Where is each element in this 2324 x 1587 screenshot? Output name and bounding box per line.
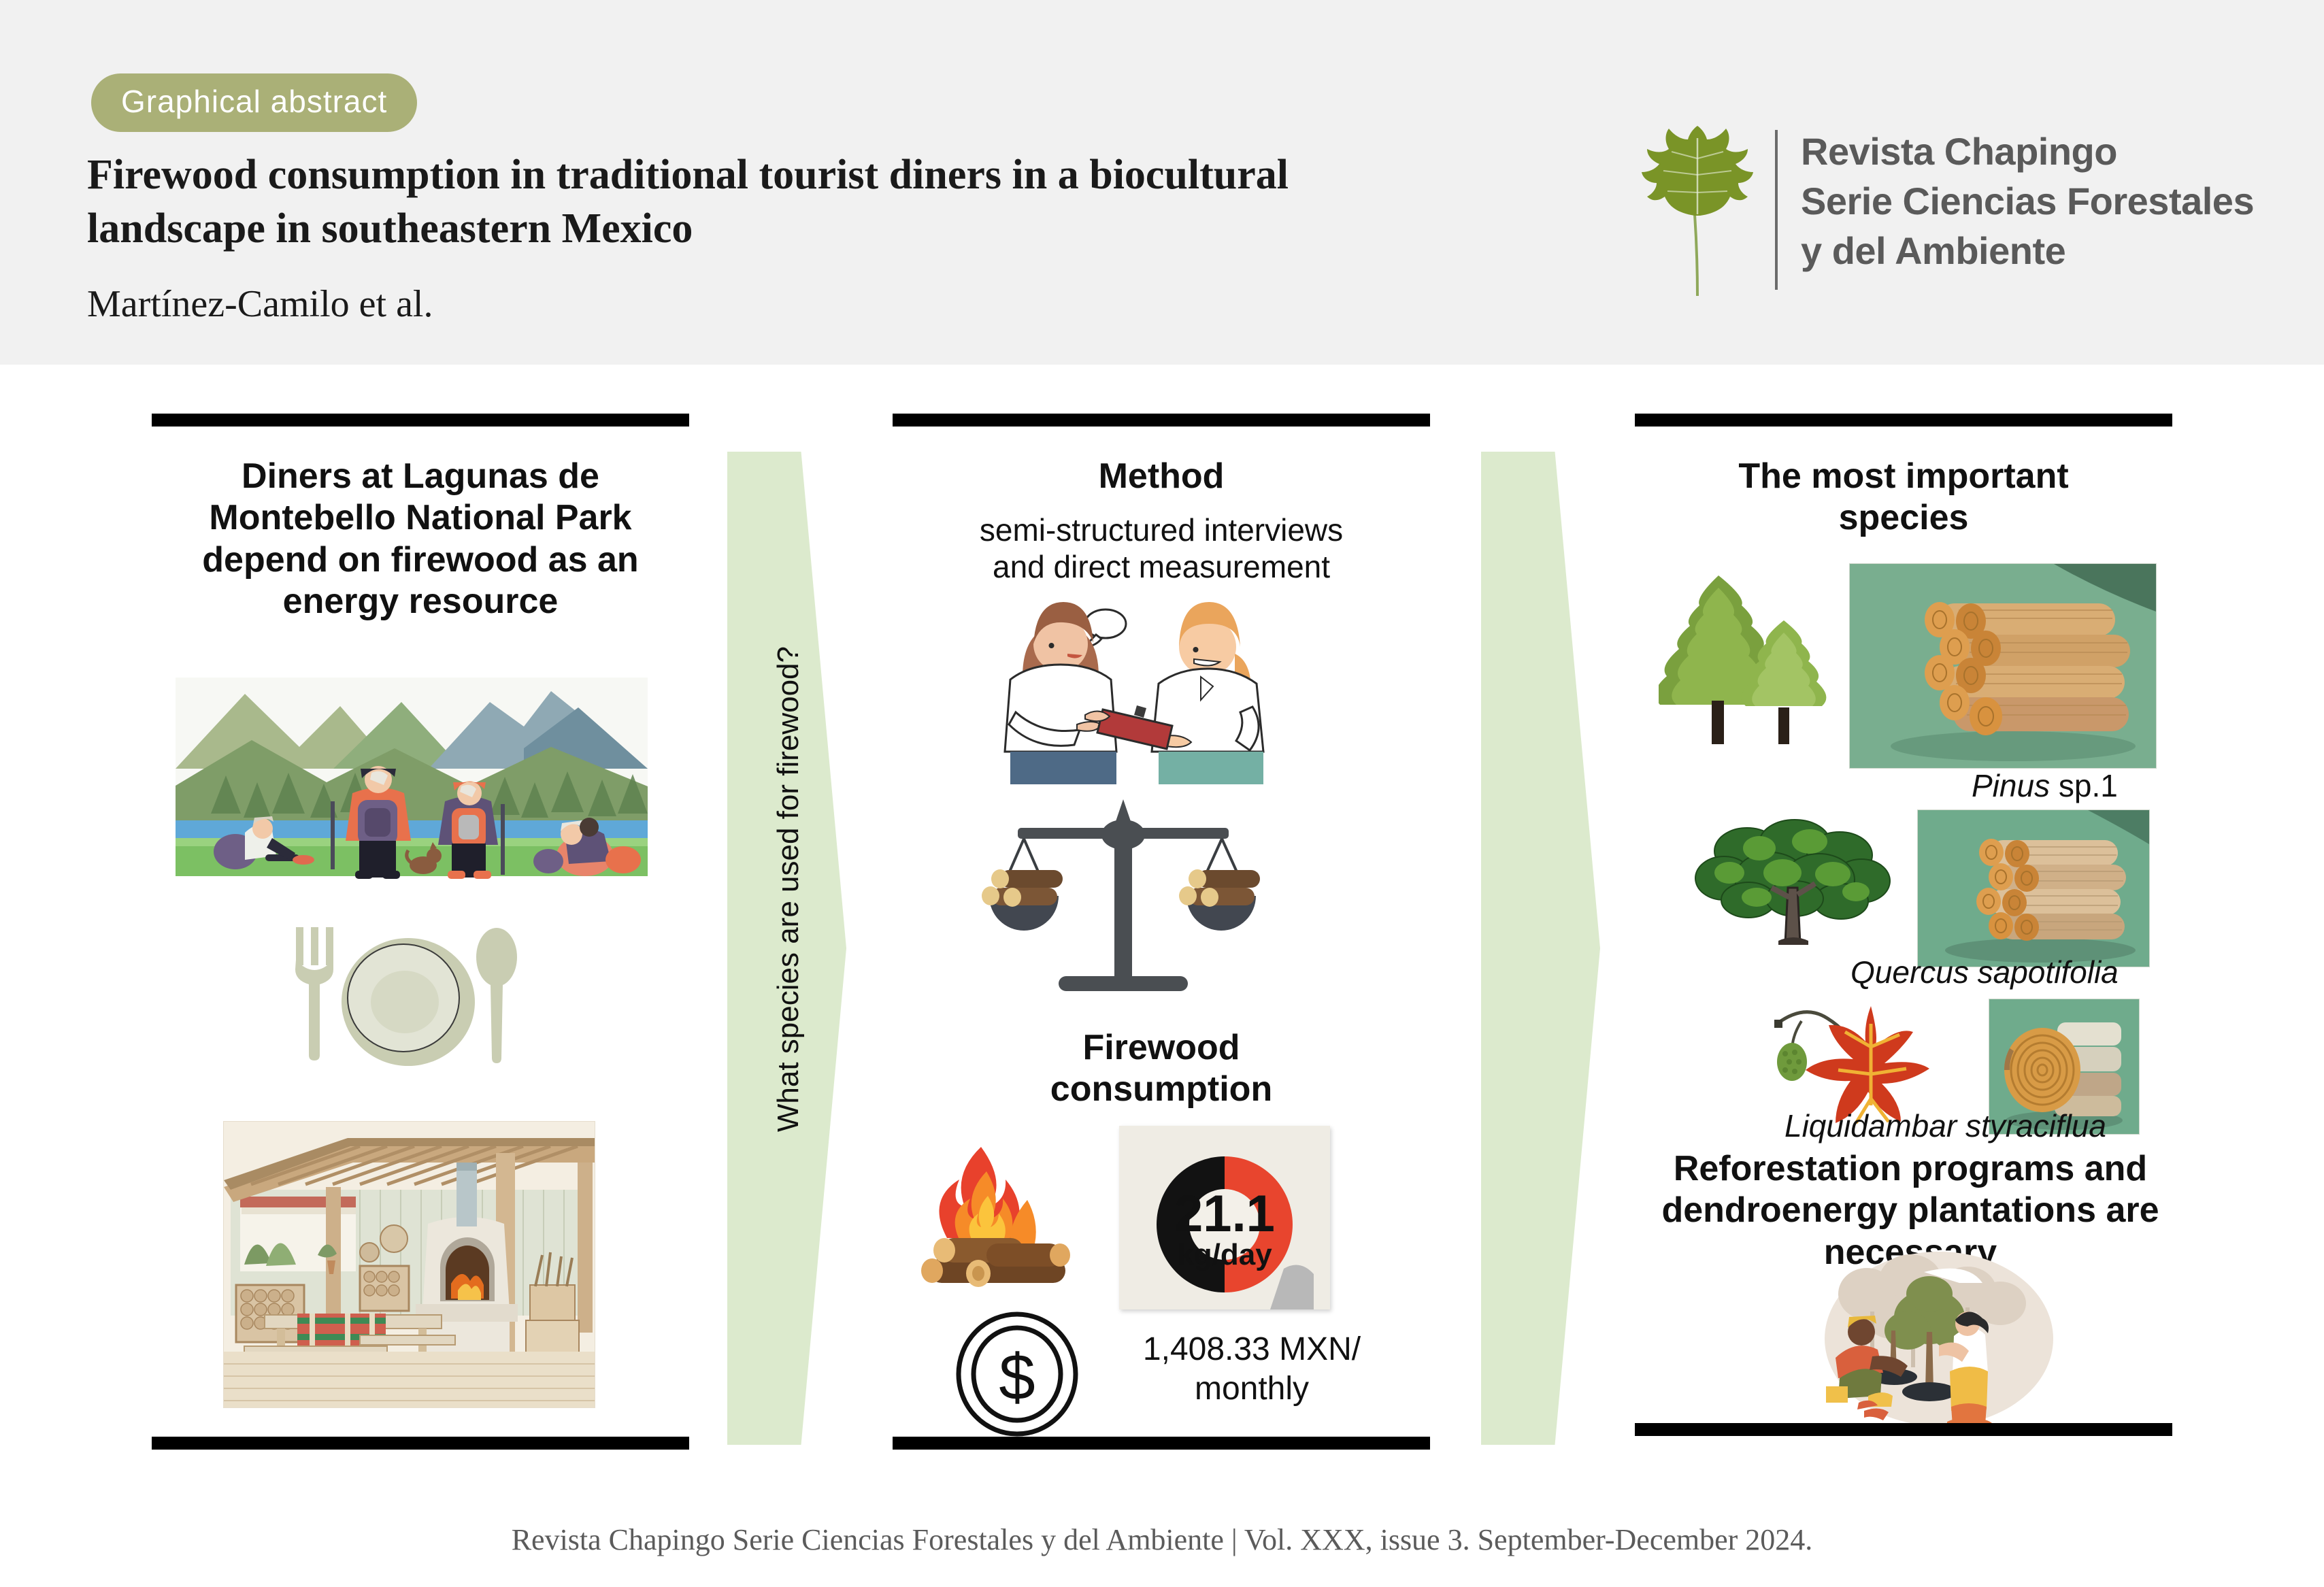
journal-logo: Revista Chapingo Serie Ciencias Forestal… bbox=[1629, 126, 2254, 299]
species-label-pinus-rest: sp.1 bbox=[2050, 768, 2118, 803]
right-column-heading: The most important species bbox=[1662, 456, 2145, 539]
graphical-abstract-badge: Graphical abstract bbox=[91, 73, 417, 132]
authors: Martínez-Camilo et al. bbox=[87, 282, 433, 326]
species-label-pinus-italic: Pinus bbox=[1972, 768, 2050, 803]
logo-divider bbox=[1775, 130, 1778, 290]
pine-trees-icon bbox=[1659, 565, 1842, 755]
stacked-pine-logs-photo bbox=[1849, 563, 2157, 769]
oak-tree-icon bbox=[1686, 813, 1897, 949]
journal-name: Revista Chapingo Serie Ciencias Forestal… bbox=[1801, 126, 2254, 275]
svg-text:$: $ bbox=[999, 1341, 1035, 1414]
gauge-unit: kg/day bbox=[1119, 1240, 1330, 1270]
header-band: Graphical abstract Firewood consumption … bbox=[0, 0, 2324, 365]
method-subheading-line2: and direct measurement bbox=[893, 548, 1430, 585]
hikers-in-park-illustration bbox=[170, 667, 653, 884]
method-subheading: semi-structured interviews and direct me… bbox=[893, 512, 1430, 586]
tree-planting-illustration bbox=[1796, 1252, 2082, 1429]
arrow-middle-to-right bbox=[1481, 452, 1600, 1445]
species-label-quercus: Quercus sapotifolia bbox=[1850, 954, 2119, 990]
firewood-rate-gauge-card: 21.1 kg/day bbox=[1119, 1126, 1330, 1309]
species-label-pinus: Pinus sp.1 bbox=[1972, 767, 2118, 804]
left-column-heading: Diners at Lagunas de Montebello National… bbox=[172, 456, 669, 622]
monthly-cost-line1: 1,408.33 MXN/ bbox=[1109, 1330, 1395, 1369]
footer-citation: Revista Chapingo Serie Ciencias Forestal… bbox=[0, 1522, 2324, 1557]
rule-top-left bbox=[152, 414, 689, 427]
journal-name-line2: Serie Ciencias Forestales bbox=[1801, 177, 2254, 227]
species-label-liquidambar-italic: Liquidambar styraciflua bbox=[1784, 1108, 2106, 1143]
plate-and-cutlery-icon bbox=[261, 922, 560, 1092]
monthly-cost: 1,408.33 MXN/ monthly bbox=[1109, 1330, 1395, 1408]
campfire-icon bbox=[899, 1129, 1117, 1306]
species-label-quercus-italic: Quercus sapotifolia bbox=[1850, 954, 2119, 990]
firewood-consumption-heading: Firewood consumption bbox=[920, 1027, 1403, 1111]
method-heading: Method bbox=[920, 456, 1403, 497]
page-title-line1: Firewood consumption in traditional tour… bbox=[87, 148, 1516, 202]
rule-bottom-left bbox=[152, 1437, 689, 1450]
rule-bottom-right bbox=[1635, 1423, 2172, 1436]
page-title: Firewood consumption in traditional tour… bbox=[87, 148, 1516, 256]
method-subheading-line1: semi-structured interviews bbox=[893, 512, 1430, 548]
firewood-consumption-line2: consumption bbox=[920, 1069, 1403, 1110]
stacked-oak-logs-photo bbox=[1917, 809, 2150, 967]
rule-top-right bbox=[1635, 414, 2172, 427]
species-label-liquidambar: Liquidambar styraciflua bbox=[1784, 1107, 2106, 1144]
monthly-cost-line2: monthly bbox=[1109, 1369, 1395, 1409]
arrow-question-label-1: What species are used for firewood? bbox=[771, 646, 806, 1132]
right-column-heading-line1: The most important bbox=[1662, 456, 2145, 497]
oak-leaf-icon bbox=[1629, 126, 1765, 299]
right-column-heading-line2: species bbox=[1662, 497, 2145, 539]
page-title-line2: landscape in southeastern Mexico bbox=[87, 202, 1516, 256]
rule-bottom-middle bbox=[893, 1437, 1430, 1450]
gauge-value: 21.1 bbox=[1119, 1188, 1330, 1240]
journal-name-line1: Revista Chapingo bbox=[1801, 127, 2254, 177]
two-women-interview-illustration bbox=[983, 582, 1337, 796]
dollar-coin-icon: $ bbox=[952, 1309, 1082, 1439]
traditional-diner-with-wood-oven-illustration bbox=[223, 1121, 595, 1408]
balance-scale-with-firewood-icon bbox=[959, 786, 1367, 1010]
rule-top-middle bbox=[893, 414, 1430, 427]
journal-name-line3: y del Ambiente bbox=[1801, 227, 2254, 276]
firewood-consumption-line1: Firewood bbox=[920, 1027, 1403, 1069]
